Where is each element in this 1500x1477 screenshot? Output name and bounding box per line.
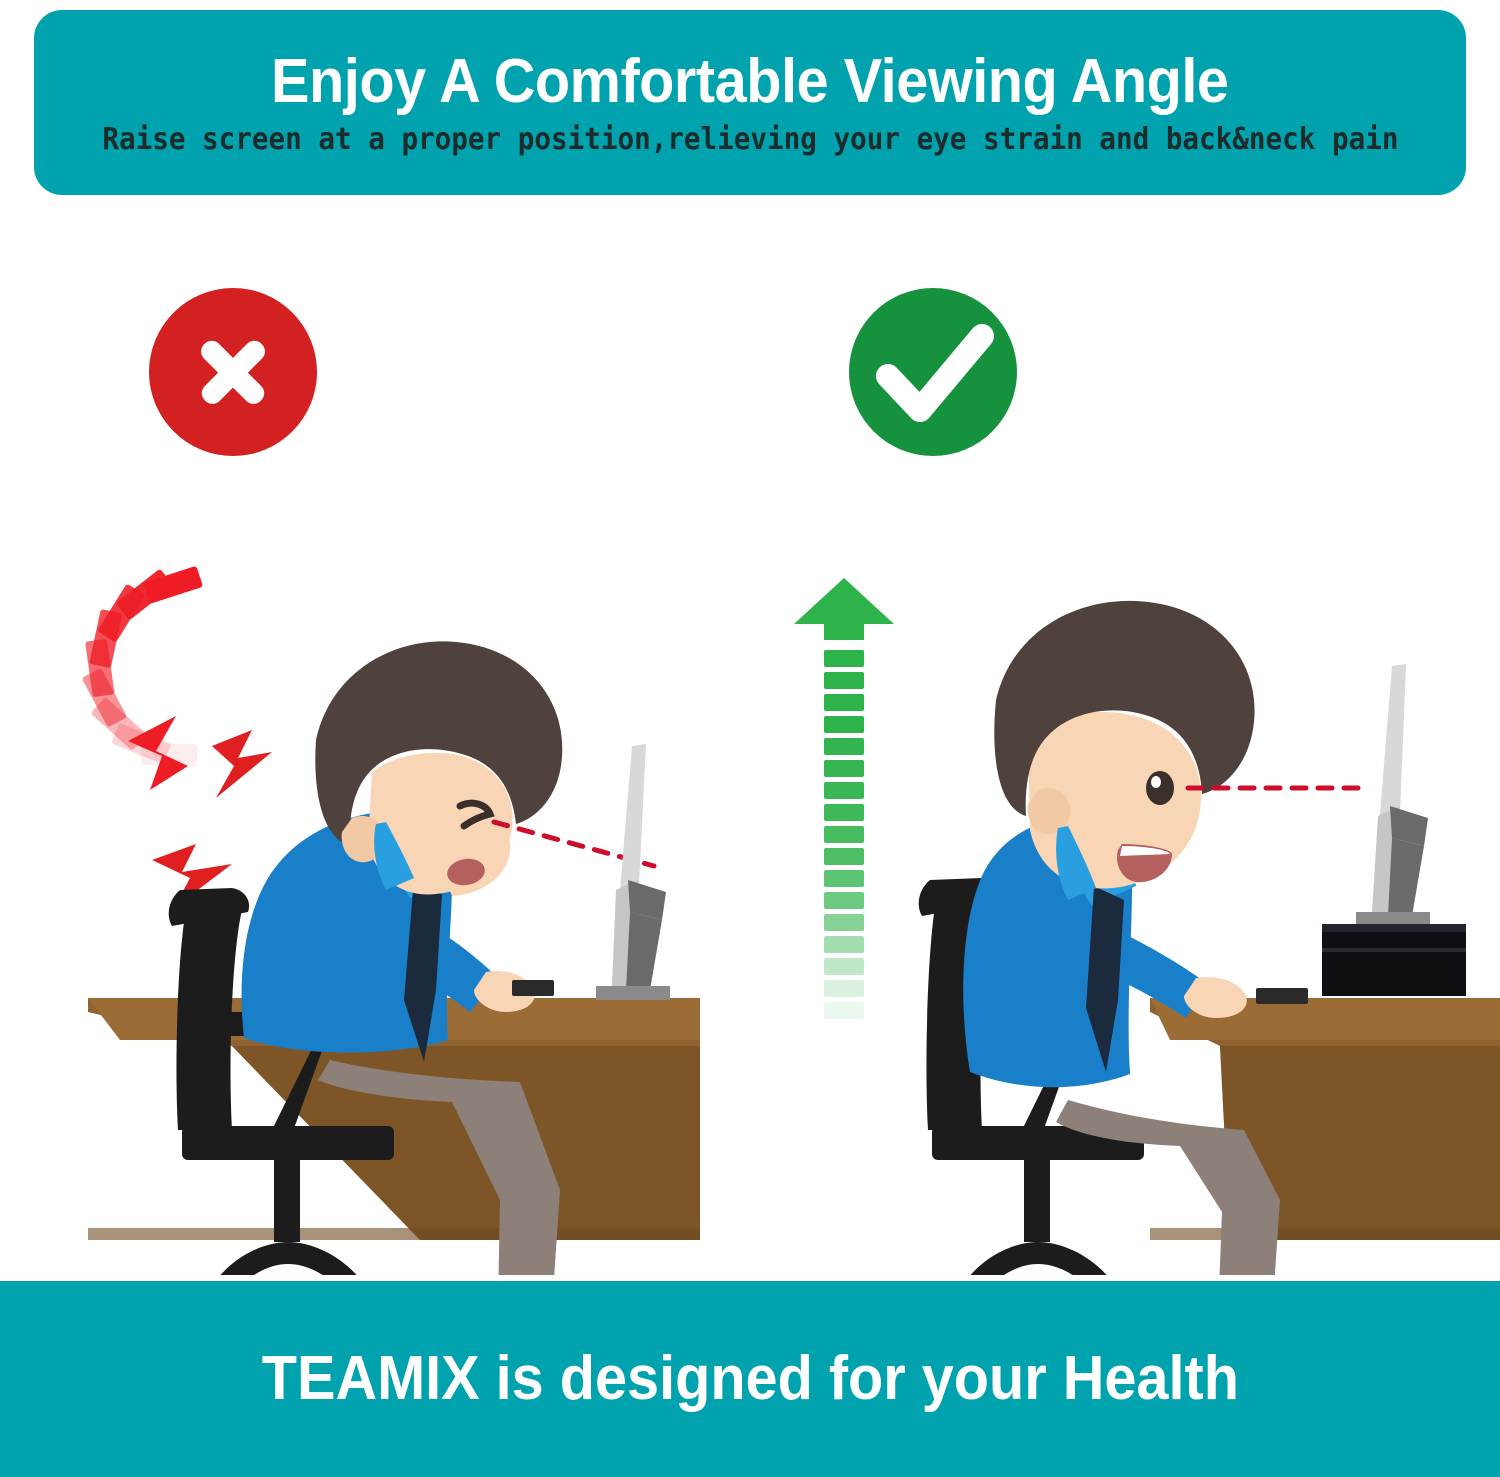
header-banner: Enjoy A Comfortable Viewing Angle Raise … bbox=[34, 10, 1466, 195]
monitor-riser bbox=[1322, 924, 1466, 996]
good-posture-person bbox=[963, 601, 1286, 1275]
page-subtitle: Raise screen at a proper position,reliev… bbox=[102, 125, 1398, 155]
illustration-area bbox=[0, 200, 1500, 1275]
monitor-low bbox=[596, 744, 670, 1000]
footer-banner: TEAMIX is designed for your Health bbox=[0, 1281, 1500, 1477]
figures-overlay bbox=[0, 200, 1500, 1275]
keyboard bbox=[1256, 988, 1308, 1004]
brand-tagline: TEAMIX is designed for your Health bbox=[261, 1348, 1238, 1410]
bad-posture-person bbox=[242, 641, 566, 1275]
page-title: Enjoy A Comfortable Viewing Angle bbox=[271, 51, 1229, 113]
keyboard bbox=[512, 980, 554, 996]
monitor-raised bbox=[1356, 664, 1430, 926]
